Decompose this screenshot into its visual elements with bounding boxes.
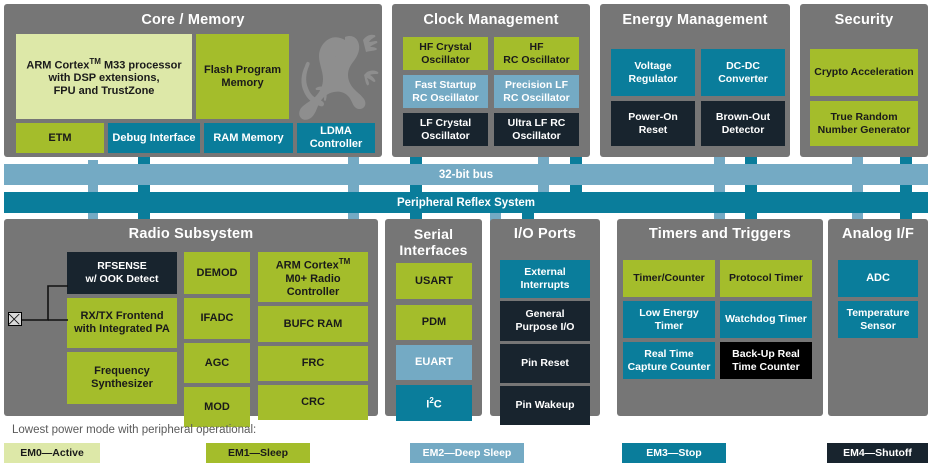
panel-io-ports: I/O Ports ExternalInterrupts GeneralPurp… (490, 219, 600, 416)
block-hf-rc-oscillator[interactable]: HFRC Oscillator (494, 37, 579, 70)
legend-item-em3: EM3—Stop (622, 443, 726, 463)
block-arm-cortex-m33[interactable]: ARM CortexTM M33 processorwith DSP exten… (16, 34, 192, 119)
block-power-on-reset[interactable]: Power-OnReset (611, 101, 695, 146)
panel-serial-interfaces: SerialInterfaces USART PDM EUART I2C (385, 219, 482, 416)
panel-timers-and-triggers: Timers and Triggers Timer/Counter Protoc… (617, 219, 823, 416)
panel-title-clock-management: Clock Management (392, 12, 590, 29)
panel-title-radio-subsystem: Radio Subsystem (4, 226, 378, 243)
block-frequency-synthesizer[interactable]: FrequencySynthesizer (67, 352, 177, 404)
block-usart[interactable]: USART (396, 263, 472, 299)
legend-item-em0: EM0—Active (4, 443, 100, 463)
block-demod[interactable]: DEMOD (184, 252, 250, 294)
block-temperature-sensor[interactable]: TemperatureSensor (838, 301, 918, 338)
block-i2c[interactable]: I2C (396, 385, 472, 421)
block-brown-out-detector[interactable]: Brown-OutDetector (701, 101, 785, 146)
block-external-interrupts[interactable]: ExternalInterrupts (500, 260, 590, 298)
block-general-purpose-io[interactable]: GeneralPurpose I/O (500, 301, 590, 341)
block-pdm[interactable]: PDM (396, 305, 472, 340)
block-lf-crystal-oscillator[interactable]: LF CrystalOscillator (403, 113, 488, 146)
block-backup-real-time-counter[interactable]: Back-Up RealTime Counter (720, 342, 812, 379)
legend-item-em1: EM1—Sleep (206, 443, 310, 463)
panel-energy-management: Energy Management VoltageRegulator DC-DC… (600, 4, 790, 157)
block-ldma-controller[interactable]: LDMAController (297, 123, 375, 153)
block-dc-dc-converter[interactable]: DC-DCConverter (701, 49, 785, 96)
legend-note: Lowest power mode with peripheral operat… (12, 424, 256, 436)
block-agc[interactable]: AGC (184, 343, 250, 383)
block-diagram-canvas: Core / Memory ARM CortexTM M33 processor… (0, 0, 932, 471)
block-frc[interactable]: FRC (258, 346, 368, 381)
block-true-random-number-generator[interactable]: True RandomNumber Generator (810, 101, 918, 146)
block-rx-tx-frontend[interactable]: RX/TX Frontendwith Integrated PA (67, 298, 177, 348)
block-euart[interactable]: EUART (396, 345, 472, 380)
bus-32-bit: 32-bit bus (4, 164, 928, 185)
block-arm-cortex-m0-radio-controller[interactable]: ARM CortexTMM0+ RadioController (258, 252, 368, 302)
panel-title-serial-interfaces: SerialInterfaces (385, 226, 482, 258)
legend-item-em4: EM4—Shutoff (827, 443, 928, 463)
antenna-port-icon (8, 312, 22, 326)
block-etm[interactable]: ETM (16, 123, 104, 153)
panel-title-io-ports: I/O Ports (490, 226, 600, 243)
block-bufc-ram[interactable]: BUFC RAM (258, 306, 368, 342)
block-ifadc[interactable]: IFADC (184, 298, 250, 339)
block-watchdog-timer[interactable]: Watchdog Timer (720, 301, 812, 338)
block-hf-crystal-oscillator[interactable]: HF CrystalOscillator (403, 37, 488, 70)
block-low-energy-timer[interactable]: Low Energy Timer (623, 301, 715, 338)
panel-title-core-memory: Core / Memory (4, 12, 382, 29)
panel-security: Security Crypto Acceleration True Random… (800, 4, 928, 157)
block-voltage-regulator[interactable]: VoltageRegulator (611, 49, 695, 96)
block-ultra-lf-rc-oscillator[interactable]: Ultra LF RCOscillator (494, 113, 579, 146)
block-rfsense[interactable]: RFSENSEw/ OOK Detect (67, 252, 177, 294)
block-crypto-acceleration[interactable]: Crypto Acceleration (810, 49, 918, 96)
block-debug-interface[interactable]: Debug Interface (108, 123, 200, 153)
block-flash-program-memory[interactable]: Flash Program Memory (196, 34, 289, 119)
block-pin-reset[interactable]: Pin Reset (500, 344, 590, 383)
block-mod[interactable]: MOD (184, 387, 250, 427)
panel-title-analog-if: Analog I/F (828, 226, 928, 243)
block-timer-counter[interactable]: Timer/Counter (623, 260, 715, 297)
panel-title-energy-management: Energy Management (600, 12, 790, 29)
panel-title-security: Security (800, 12, 928, 29)
panel-analog-if: Analog I/F ADC TemperatureSensor (828, 219, 928, 416)
legend-item-em2: EM2—Deep Sleep (410, 443, 524, 463)
panel-title-timers-and-triggers: Timers and Triggers (617, 226, 823, 243)
panel-clock-management: Clock Management HF CrystalOscillator HF… (392, 4, 590, 157)
block-crc[interactable]: CRC (258, 385, 368, 420)
block-fast-startup-rc-oscillator[interactable]: Fast StartupRC Oscillator (403, 75, 488, 108)
block-protocol-timer[interactable]: Protocol Timer (720, 260, 812, 297)
block-pin-wakeup[interactable]: Pin Wakeup (500, 386, 590, 425)
block-ram-memory[interactable]: RAM Memory (204, 123, 293, 153)
panel-core-memory: Core / Memory ARM CortexTM M33 processor… (4, 4, 382, 157)
bus-prs-label: Peripheral Reflex System (397, 197, 535, 209)
block-adc[interactable]: ADC (838, 260, 918, 297)
block-real-time-capture-counter[interactable]: Real TimeCapture Counter (623, 342, 715, 379)
gecko-logo-icon (299, 28, 381, 120)
bus-32-bit-label: 32-bit bus (439, 169, 493, 181)
block-precision-lf-rc-oscillator[interactable]: Precision LFRC Oscillator (494, 75, 579, 108)
